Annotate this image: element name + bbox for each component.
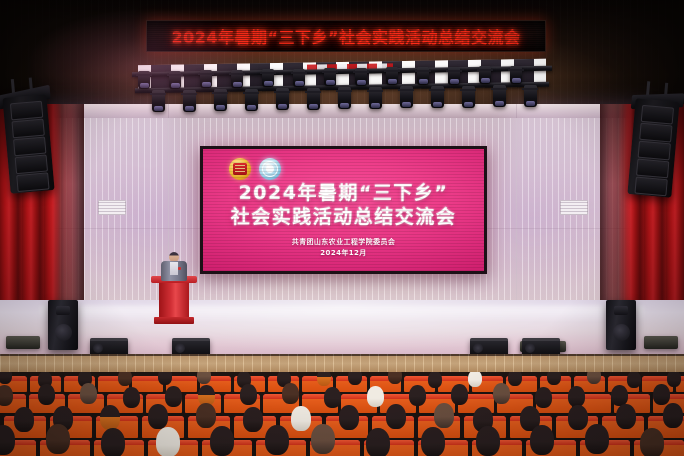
stage-lamp-upper-5 — [262, 69, 274, 87]
stage-lamp-lower-13 — [524, 85, 537, 107]
stage-speaker-stack-left — [48, 300, 78, 350]
audience-member-head — [640, 428, 664, 456]
audience-member-head — [123, 387, 140, 408]
audience-member-head — [210, 426, 234, 456]
led-banner-text: 2024年暑期“三下乡”社会实践活动总结交流会 — [171, 24, 520, 48]
audience-member-head — [451, 384, 468, 405]
stage-lamp-lower-8 — [369, 87, 382, 109]
stage-lamp-lower-2 — [183, 90, 196, 112]
audience-member-head — [291, 406, 311, 431]
stage-lamp-upper-8 — [355, 68, 367, 86]
communist-youth-league-emblem-icon — [229, 158, 251, 180]
wall-vent-right — [560, 200, 588, 215]
amp-box-left — [6, 336, 40, 349]
audience-member-head — [0, 385, 13, 406]
audience-member-head — [667, 372, 681, 387]
audience-member-head — [585, 424, 609, 454]
audience-member-head — [616, 404, 636, 429]
stage-lamp-upper-12 — [479, 66, 491, 84]
led-banner: 2024年暑期“三下乡”社会实践活动总结交流会 — [146, 20, 546, 52]
curtain-edge-right — [600, 104, 620, 332]
stage-speaker-stack-right — [606, 300, 636, 350]
stage-lamp-lower-9 — [400, 86, 413, 108]
line-array-cabinet-right — [627, 98, 679, 197]
audience-member-head — [434, 403, 454, 428]
audience-member-head — [317, 372, 331, 386]
audience-member-head — [428, 372, 442, 388]
audience-member-head — [100, 405, 120, 430]
audience-member-head — [568, 386, 585, 407]
audience-member-head — [535, 387, 552, 408]
audience-member-head — [339, 405, 359, 430]
audience-member-head — [156, 427, 180, 456]
audience-member-head — [421, 427, 445, 456]
line-array-speaker-right — [621, 80, 684, 204]
audience-member-head — [46, 424, 70, 454]
auditorium-stage-photo: 2024年暑期“三下乡”社会实践活动总结交流会 — [0, 0, 684, 456]
stage-lamp-lower-5 — [276, 88, 289, 110]
audience-member-head — [158, 372, 172, 385]
audience-member-head — [101, 428, 125, 456]
stage-lamp-lower-11 — [462, 86, 475, 108]
stage-lamp-upper-4 — [231, 70, 243, 88]
stage-floor-sheen — [40, 306, 644, 322]
curtain-edge-left — [64, 104, 84, 332]
screen-title: 2024年暑期“三下乡” 社会实践活动总结交流会 — [203, 182, 484, 229]
audience-member-head — [311, 424, 335, 454]
audience-member-head — [653, 384, 670, 405]
stage-lamp-upper-6 — [293, 69, 305, 87]
screen-subtitle-date: 2024年12月 — [203, 248, 484, 259]
audience-member-head — [587, 372, 601, 384]
podium-column — [159, 283, 189, 317]
audience-member-head — [627, 372, 641, 388]
stage-lamp-lower-7 — [338, 87, 351, 109]
line-array-cabinet-left — [2, 94, 54, 193]
stage-lamp-upper-2 — [169, 71, 181, 89]
screen-title-line1: 2024年暑期“三下乡” — [203, 182, 484, 204]
stage-lamp-upper-7 — [324, 68, 336, 86]
audience-member-head — [118, 372, 132, 386]
lighting-truss — [132, 62, 552, 118]
audience-member-head — [240, 384, 257, 405]
stage-lamp-upper-3 — [200, 70, 212, 88]
screen-emblems — [229, 158, 281, 180]
audience-member-head — [366, 428, 390, 456]
screen-surface: 2024年暑期“三下乡” 社会实践活动总结交流会 共青团山东农业工程学院委员会 … — [203, 149, 484, 271]
stage-lamp-upper-9 — [386, 67, 398, 85]
audience-member-head — [348, 372, 362, 385]
audience-member-head — [148, 404, 168, 429]
stage-lamp-upper-11 — [448, 67, 460, 85]
presenter-badge — [178, 267, 181, 270]
presenter-shirt — [170, 262, 178, 275]
red-podium — [151, 276, 197, 326]
audience-member-head — [388, 372, 402, 384]
wall-vent-left — [98, 200, 126, 215]
line-array-speaker-left — [0, 76, 61, 200]
audience-member-head — [468, 372, 482, 387]
stage-lamp-lower-12 — [493, 85, 506, 107]
audience-member-head — [265, 425, 289, 455]
audience-member-head — [476, 426, 500, 456]
audience-member-head — [663, 403, 683, 428]
led-presentation-screen: 2024年暑期“三下乡” 社会实践活动总结交流会 共青团山东农业工程学院委员会 … — [200, 146, 487, 274]
audience-member-head — [282, 383, 299, 404]
amp-box-right — [644, 336, 678, 349]
stage-lamp-upper-10 — [417, 67, 429, 85]
stage-lamp-lower-10 — [431, 86, 444, 108]
audience-member-head — [165, 386, 182, 407]
stage-lamp-upper-13 — [510, 66, 522, 84]
audience-member-head — [409, 385, 426, 406]
podium-base — [154, 317, 194, 324]
presenter-at-podium — [158, 252, 190, 280]
audience-member-head — [80, 383, 97, 404]
audience-member-head — [568, 405, 588, 430]
audience-member-head — [493, 383, 510, 404]
wall-seam-right — [516, 104, 517, 310]
stage-lamp-upper-1 — [138, 71, 150, 89]
audience-member-head — [243, 407, 263, 432]
stage-lamp-lower-3 — [214, 89, 227, 111]
screen-subtitle: 共青团山东农业工程学院委员会 2024年12月 — [203, 237, 484, 258]
university-emblem-icon — [259, 158, 281, 180]
audience-member-head — [530, 425, 554, 455]
audience-member-head — [14, 407, 34, 432]
screen-title-line2: 社会实践活动总结交流会 — [203, 206, 484, 228]
audience-member-head — [196, 403, 216, 428]
screen-subtitle-organization: 共青团山东农业工程学院委员会 — [203, 237, 484, 248]
audience-member-head — [367, 386, 384, 407]
audience-member-head — [324, 387, 341, 408]
audience-member-head — [508, 372, 522, 386]
stage-lamp-lower-6 — [307, 88, 320, 110]
audience-member-head — [38, 384, 55, 405]
audience-member-head — [386, 404, 406, 429]
audience-member-head — [547, 372, 561, 385]
audience-area — [0, 372, 684, 456]
audience-member-head — [197, 372, 211, 384]
stage-lamp-lower-1 — [152, 90, 165, 112]
audience-member-head — [611, 385, 628, 406]
stage-lamp-lower-4 — [245, 89, 258, 111]
